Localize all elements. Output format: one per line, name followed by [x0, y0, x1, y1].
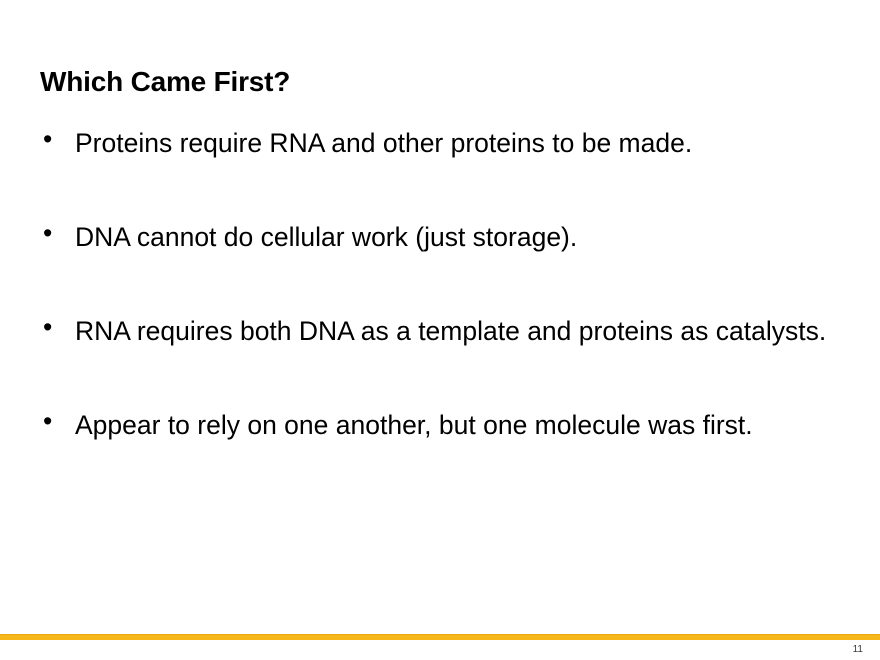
page-title: Which Came First? [40, 65, 290, 99]
slide-canvas: Which Came First? • Proteins require RNA… [0, 0, 880, 660]
list-item: • Proteins require RNA and other protein… [40, 124, 840, 162]
page-number: 11 [853, 644, 863, 656]
list-item-text: Appear to rely on one another, but one m… [75, 406, 840, 444]
bullet-dot-icon: • [43, 312, 55, 342]
list-item: • RNA requires both DNA as a template an… [40, 312, 840, 350]
list-item-text: DNA cannot do cellular work (just storag… [75, 218, 840, 256]
bullet-dot-icon: • [43, 406, 55, 436]
bullet-dot-icon: • [43, 124, 55, 154]
bullet-dot-icon: • [43, 218, 55, 248]
list-item: • Appear to rely on one another, but one… [40, 406, 840, 444]
footer-divider [0, 634, 880, 640]
list-item-text: Proteins require RNA and other proteins … [75, 124, 840, 162]
list-item: • DNA cannot do cellular work (just stor… [40, 218, 840, 256]
bullet-list: • Proteins require RNA and other protein… [40, 124, 840, 444]
list-item-text: RNA requires both DNA as a template and … [75, 312, 840, 350]
